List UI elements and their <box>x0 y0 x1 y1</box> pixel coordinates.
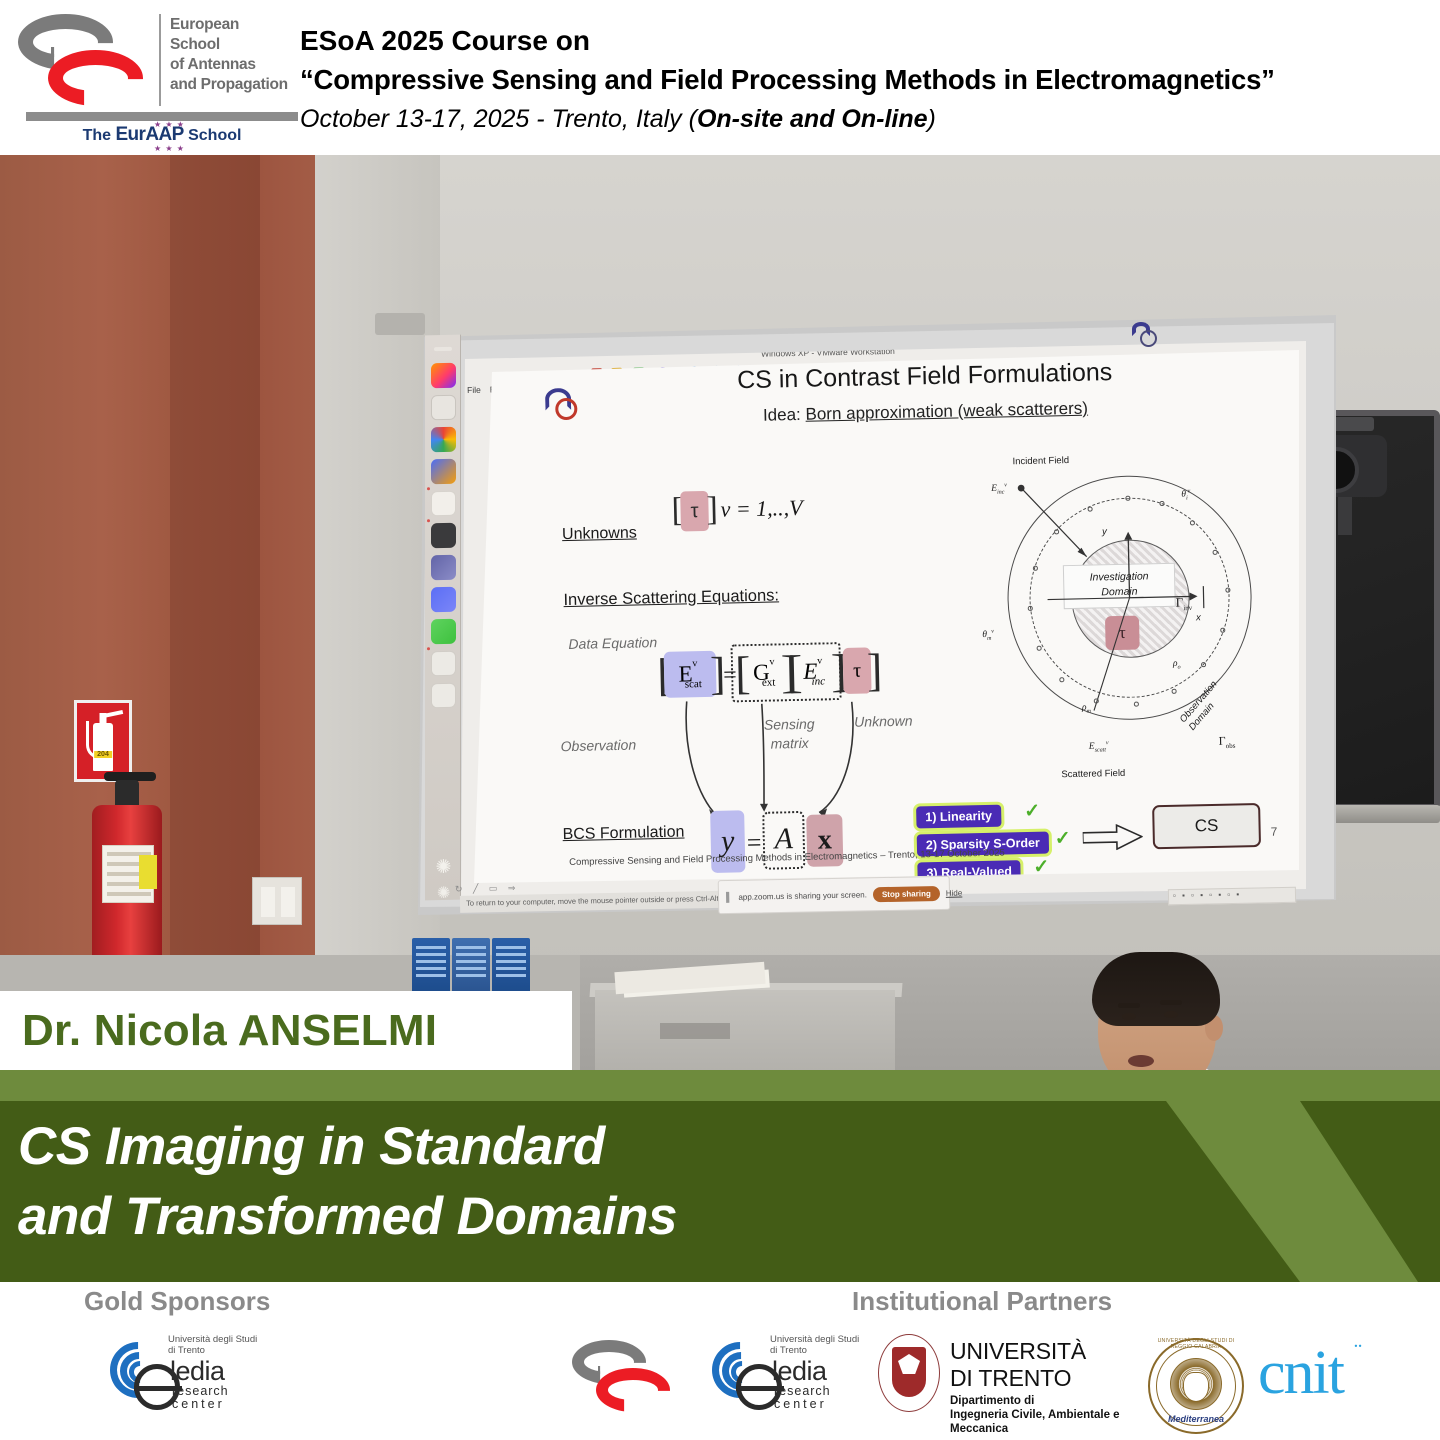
eq-e-inc-sub: inc <box>811 675 825 687</box>
sensing-label-line1: Sensing <box>764 716 815 733</box>
slide-footer: Compressive Sensing and Field Processing… <box>569 844 1189 869</box>
eledia-logo-gold: Università degli Studi di Trento ledia r… <box>110 1334 260 1416</box>
mediterranea-ring-text: UNIVERSITÀ DEGLI STUDI DI REGGIO CALABRI… <box>1146 1338 1246 1350</box>
system-settings-icon[interactable] <box>431 683 456 708</box>
chrome-icon[interactable] <box>431 427 456 452</box>
slide-sensing-matrix-label: Sensing matrix <box>744 714 835 754</box>
sensor-point <box>1037 646 1042 651</box>
poster-page: European School of Antennas and Propagat… <box>0 0 1440 1440</box>
projector-screen-roller <box>375 313 425 335</box>
loading-spinner-icon: ✺ <box>431 855 456 880</box>
unitn-logo: UNIVERSITÀ DI TRENTO Dipartimento di Ing… <box>878 1332 1128 1416</box>
speaker-eye-left <box>1122 1013 1136 1020</box>
slide-idea-prefix: Idea: <box>763 405 806 425</box>
lecture-title-banner: CS Imaging in Standard and Transformed D… <box>0 1070 1440 1282</box>
fire-extinguisher-sign-icon: 204 <box>74 700 132 782</box>
eq-e-scat-sup: v <box>692 659 697 670</box>
slide-page-number: 7 <box>1271 825 1278 839</box>
slide-idea-underline: Born approximation (weak scatterers) <box>805 399 1088 424</box>
unitn-name: UNIVERSITÀ DI TRENTO <box>950 1338 1086 1392</box>
speaker-mouth <box>1128 1055 1154 1067</box>
course-mode: On-site and On-line <box>697 105 928 133</box>
euraap-suffix: School <box>184 127 242 144</box>
eledia-sub-center: center <box>172 1397 225 1411</box>
esoa-logo-small <box>572 1340 682 1410</box>
slide-idea: Idea: Born approximation (weak scatterer… <box>605 395 1245 429</box>
vmware-spinner-icon: ✺ <box>437 883 455 901</box>
stop-sharing-button[interactable]: Stop sharing <box>873 885 940 901</box>
firefox-icon[interactable] <box>431 363 456 388</box>
sensor-point <box>1094 698 1099 703</box>
lion-crest-icon <box>1170 1358 1222 1414</box>
course-line-2: “Compressive Sensing and Field Processin… <box>300 60 1430 100</box>
esoa-word-2: School <box>170 35 295 55</box>
course-line-3-tail: ) <box>928 105 936 133</box>
terminal-icon[interactable] <box>431 523 456 548</box>
cnit-diaeresis-icon: ¨ <box>1354 1340 1365 1367</box>
sensor-point <box>1088 507 1093 512</box>
sensor-point <box>1134 702 1139 707</box>
euraap-school-label: The EurAAP School <box>26 124 298 146</box>
camera-arm <box>1338 497 1352 535</box>
slide-observation-label: Observation <box>560 737 636 755</box>
finder-icon[interactable] <box>434 347 452 351</box>
sensor-point <box>1059 677 1064 682</box>
tau-unknown-box: τ <box>680 491 709 532</box>
eq-g-ext-sup: v <box>769 657 774 668</box>
eledia-logo-institutional: Università degli Studi di Trento ledia r… <box>712 1334 862 1416</box>
supply-box <box>452 938 490 993</box>
mediterranea-name: Mediterranea <box>1146 1414 1246 1424</box>
eq-e-scat: Evscat <box>664 651 717 698</box>
presentation-slide: CS in Contrast Field Formulations Idea: … <box>474 350 1299 883</box>
teams-icon[interactable] <box>431 555 456 580</box>
running-indicator-icon <box>427 519 430 522</box>
eledia-sub-center: center <box>774 1397 827 1411</box>
zoom-screenshare-bar[interactable]: ▌ app.zoom.us is sharing your screen. St… <box>718 876 951 914</box>
eledia-wordmark: ledia <box>170 1356 225 1387</box>
sensor-point <box>1213 550 1218 555</box>
eledia-wordmark: ledia <box>772 1356 827 1387</box>
hide-link[interactable]: Hide <box>946 888 963 897</box>
lecture-title-line-2: and Transformed Domains <box>18 1182 1118 1252</box>
sensor-point <box>1225 588 1230 593</box>
gold-sponsors-heading: Gold Sponsors <box>84 1286 270 1317</box>
eledia-uni-line-2: di Trento <box>168 1345 205 1356</box>
eq-e-inc-sup: v <box>817 656 822 667</box>
eledia-university-line: Università degli Studi di Trento <box>168 1334 257 1356</box>
unitn-dep-line-1: Dipartimento di <box>950 1395 1034 1407</box>
euraap-prefix: The <box>83 127 116 144</box>
eledia-uni-line-2: di Trento <box>770 1345 807 1356</box>
eq-tau-symbol: τ <box>853 659 862 682</box>
sensor-point <box>1033 566 1038 571</box>
course-date-place: October 13-17, 2025 - Trento, Italy ( <box>300 105 697 133</box>
slide-unknowns-label: Unknowns <box>562 524 637 544</box>
lecture-title-line-1: CS Imaging in Standard <box>18 1112 1118 1182</box>
cs-result-box: CS <box>1152 803 1261 849</box>
course-line-3: October 13-17, 2025 - Trento, Italy (On-… <box>300 100 1430 138</box>
cnit-wordmark: cnit <box>1258 1339 1343 1407</box>
sensor-point <box>1220 628 1225 633</box>
speaker-eyebrow-right <box>1160 1000 1182 1005</box>
institutional-partners-heading: Institutional Partners <box>852 1286 1112 1317</box>
lecture-room-photo: 204 <box>0 155 1440 1070</box>
speaker-name-plate: Dr. Nicola ANSELMI <box>0 991 572 1070</box>
lectern <box>595 990 895 1070</box>
eledia-sub-research: research <box>172 1384 229 1398</box>
running-indicator-icon <box>427 647 430 650</box>
unitn-name-line-1: UNIVERSITÀ <box>950 1338 1086 1364</box>
lectern-tape-patch <box>660 1023 730 1039</box>
eq-e-scat-sub: scat <box>685 678 702 690</box>
zoom-share-message: app.zoom.us is sharing your screen. <box>738 890 867 901</box>
menu-file[interactable]: File <box>467 385 481 395</box>
poster-header: European School of Antennas and Propagat… <box>0 0 1440 155</box>
preview-icon[interactable] <box>431 651 456 676</box>
speaker-eye-right <box>1164 1011 1178 1018</box>
speaker-name: Dr. Nicola ANSELMI <box>0 1006 437 1056</box>
logo-divider <box>159 14 161 106</box>
speaker-eyebrow-left <box>1118 1003 1140 1008</box>
whatsapp-icon[interactable] <box>431 619 456 644</box>
supply-box <box>492 938 530 993</box>
macos-dock[interactable]: ✺ <box>425 335 461 901</box>
supply-box <box>412 938 450 993</box>
light-switch[interactable] <box>252 877 302 925</box>
speaker-hair <box>1092 952 1220 1026</box>
unitn-department: Dipartimento di Ingegneria Civile, Ambie… <box>950 1394 1128 1436</box>
slide-data-equation-label: Data Equation <box>568 634 657 652</box>
esoa-word-3: of Antennas <box>170 55 295 75</box>
scattering-geometry-diagram: Investigation Domain Γinv τ Incident Fie… <box>976 445 1284 811</box>
mediterranea-logo: UNIVERSITÀ DEGLI STUDI DI REGGIO CALABRI… <box>1146 1336 1246 1436</box>
fire-extinguisher-sign-number: 204 <box>94 751 112 758</box>
slide-bcs-label: BCS Formulation <box>562 824 684 845</box>
eledia-uni-line-1: Università degli Studi <box>770 1334 859 1345</box>
vmware-device-tray[interactable]: ▫ ▪ ▫ ▪ ▫ ▪ ▫ ▪ <box>1168 887 1296 905</box>
running-indicator-icon <box>427 487 430 490</box>
mail-icon[interactable] <box>431 395 456 420</box>
course-line-1: ESoA 2025 Course on <box>300 22 1430 60</box>
vmware-icon[interactable] <box>431 459 456 484</box>
eledia-slide-logo-icon <box>545 386 590 421</box>
euraap-stars-bottom-icon: ★ ★ ★ <box>154 144 185 153</box>
powerpoint-icon[interactable] <box>431 587 456 612</box>
fire-extinguisher-tag <box>139 855 157 889</box>
esoa-emblem-icon <box>18 14 148 106</box>
cnit-logo: cnit ¨ <box>1258 1338 1428 1408</box>
sensor-point <box>1172 689 1177 694</box>
sensor-point <box>1190 520 1195 525</box>
unitn-dep-line-2: Ingegneria Civile, Ambientale e Meccanic… <box>950 1409 1120 1435</box>
notes-icon[interactable] <box>431 491 456 516</box>
zoom-share-indicator-icon: ▌ <box>726 892 733 902</box>
course-heading: ESoA 2025 Course on “Compressive Sensing… <box>300 22 1430 138</box>
slide-inverse-equations-label: Inverse Scattering Equations: <box>563 586 779 610</box>
eledia-university-line: Università degli Studi di Trento <box>770 1334 859 1356</box>
wall-pillar <box>170 155 260 1010</box>
unitn-name-line-2: DI TRENTO <box>950 1365 1071 1391</box>
euraap-mark: EurAAP <box>115 124 183 145</box>
esoa-word-4: and Propagation <box>170 75 295 95</box>
eledia-uni-line-1: Università degli Studi <box>168 1334 257 1345</box>
esoa-word-1: European <box>170 15 295 35</box>
slide-v-range: v = 1,..,V <box>720 495 803 523</box>
lecture-title: CS Imaging in Standard and Transformed D… <box>18 1112 1118 1252</box>
sensor-point <box>1125 496 1130 501</box>
sensor-point <box>1054 529 1059 534</box>
slide-unknown-label: Unknown <box>854 713 913 730</box>
diagram-vectors <box>976 445 1284 811</box>
sensing-label-line2: matrix <box>770 735 808 752</box>
eledia-corner-logo-icon <box>1132 322 1162 348</box>
bracket-close-icon: ] <box>706 491 718 529</box>
esoa-logo-words: European School of Antennas and Propagat… <box>170 15 295 95</box>
sensor-point <box>1201 662 1206 667</box>
unitn-crest-icon <box>878 1334 940 1412</box>
eledia-sub-research: research <box>774 1384 831 1398</box>
esoa-logo: European School of Antennas and Propagat… <box>14 8 286 148</box>
sensor-point <box>1028 606 1033 611</box>
sensor-point <box>1159 501 1164 506</box>
eq-g-ext-sub: ext <box>762 676 776 688</box>
sponsors-section: Gold Sponsors Institutional Partners Uni… <box>0 1282 1440 1440</box>
